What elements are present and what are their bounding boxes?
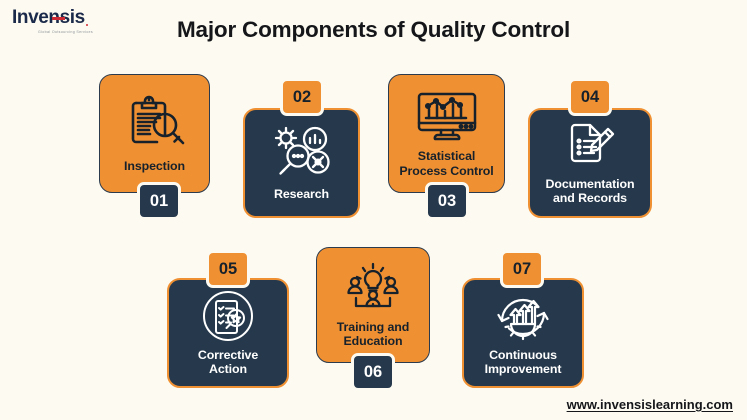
cycle-arrows-gear-icon xyxy=(494,290,552,344)
badge-number: 02 xyxy=(293,88,311,107)
card-label: Training and Education xyxy=(333,320,413,348)
card-number-badge-03: 03 xyxy=(425,182,469,220)
card-label-line2: Action xyxy=(198,362,258,376)
card-label-line1: Corrective xyxy=(198,348,258,362)
card-research[interactable]: Research xyxy=(243,108,360,218)
card-statistical-process-control[interactable]: Statistical Process Control xyxy=(388,74,505,193)
badge-number: 04 xyxy=(581,88,599,107)
page-title: Major Components of Quality Control xyxy=(0,17,747,43)
card-label: Inspection xyxy=(120,159,189,173)
checklist-star-magnifier-icon xyxy=(199,290,257,344)
card-continuous-improvement[interactable]: Continuous Improvement xyxy=(462,278,584,388)
card-training-and-education[interactable]: Training and Education xyxy=(316,247,430,363)
badge-number: 06 xyxy=(364,363,382,382)
badge-number: 03 xyxy=(438,192,456,211)
gear-chart-magnifier-atom-icon xyxy=(271,125,333,183)
badge-number: 01 xyxy=(150,192,168,211)
card-label-line1: Continuous xyxy=(485,348,562,362)
card-number-badge-07: 07 xyxy=(500,250,544,288)
card-label: Continuous Improvement xyxy=(481,348,566,376)
badge-number: 05 xyxy=(219,260,237,279)
card-label-line2: and Records xyxy=(546,191,635,205)
card-number-badge-02: 02 xyxy=(280,78,324,116)
card-number-badge-01: 01 xyxy=(137,182,181,220)
card-label-line1: Training and xyxy=(337,320,409,334)
monitor-bar-chart-icon xyxy=(413,89,481,145)
card-corrective-action[interactable]: Corrective Action xyxy=(167,278,289,388)
card-documentation-and-records[interactable]: Documentation and Records xyxy=(528,108,652,218)
card-label: Corrective Action xyxy=(194,348,262,376)
card-number-badge-05: 05 xyxy=(206,250,250,288)
card-label-line2: Education xyxy=(337,334,409,348)
badge-number: 07 xyxy=(513,260,531,279)
lightbulb-people-icon xyxy=(342,262,404,316)
card-label-line2: Improvement xyxy=(485,362,562,376)
card-number-badge-06: 06 xyxy=(351,353,395,391)
clipboard-magnifier-icon xyxy=(123,93,187,155)
card-number-badge-04: 04 xyxy=(568,78,612,116)
document-pencil-icon xyxy=(562,121,618,173)
card-label: Documentation and Records xyxy=(542,177,639,205)
infographic-canvas: Invensis Global Outsourcing Services Maj… xyxy=(0,0,747,420)
website-url[interactable]: www.invensislearning.com xyxy=(567,397,733,412)
card-label: Research xyxy=(270,187,333,201)
card-label-line2: Process Control xyxy=(399,164,493,178)
card-label: Statistical Process Control xyxy=(395,149,497,177)
card-label-line1: Statistical xyxy=(399,149,493,163)
card-label-line1: Documentation xyxy=(546,177,635,191)
card-inspection[interactable]: Inspection xyxy=(99,74,210,193)
